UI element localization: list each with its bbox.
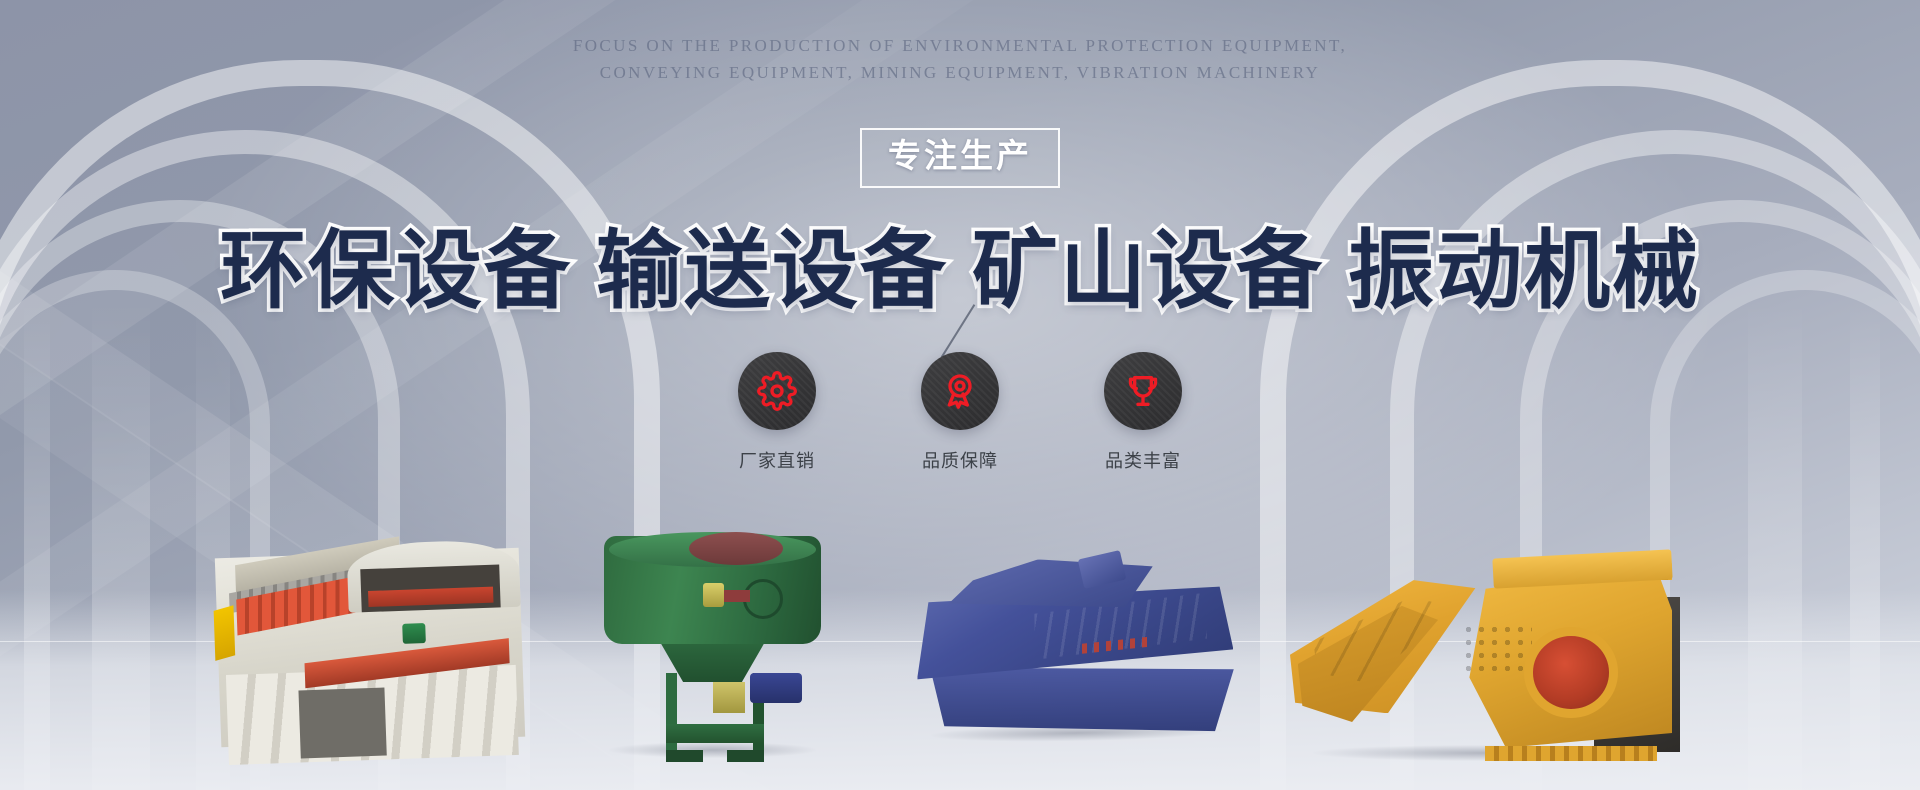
- headline-segment-3: 矿山设备: [972, 223, 1324, 319]
- photo-illustration: [1290, 550, 1680, 765]
- page-title: 环保设备输送设备矿山设备振动机械: [0, 200, 1920, 325]
- machine-photo-screening-plant: [201, 529, 539, 765]
- photo-illustration: [595, 527, 830, 762]
- trophy-icon: [1104, 352, 1182, 430]
- feature-item-rich-variety[interactable]: 品类丰富: [1088, 352, 1198, 473]
- machine-photo-blue-vibrating-screen: [908, 552, 1241, 748]
- focus-production-badge: 专注生产: [860, 128, 1060, 188]
- headline-segment-2: 输送设备: [596, 223, 948, 319]
- feature-item-quality-guarantee[interactable]: 品质保障: [905, 352, 1015, 473]
- photo-illustration: [908, 552, 1241, 748]
- gear-icon: [738, 352, 816, 430]
- eyebrow-tagline: FOCUS ON THE PRODUCTION OF ENVIRONMENTAL…: [0, 32, 1920, 86]
- medal-icon: [921, 352, 999, 430]
- machine-photo-yellow-jaw-crusher: [1290, 550, 1680, 765]
- photo-illustration: [201, 529, 539, 765]
- product-photo-row: [0, 460, 1920, 790]
- feature-list: 厂家直销 品质保障: [0, 352, 1920, 473]
- headline-segment-4: 振动机械: [1348, 223, 1700, 319]
- hero-banner: FOCUS ON THE PRODUCTION OF ENVIRONMENTAL…: [0, 0, 1920, 790]
- feature-item-factory-direct[interactable]: 厂家直销: [722, 352, 832, 473]
- machine-photo-green-mixer: [595, 527, 830, 762]
- banner-content: FOCUS ON THE PRODUCTION OF ENVIRONMENTAL…: [0, 0, 1920, 790]
- headline-segment-1: 环保设备: [220, 223, 572, 319]
- badge-container: 专注生产: [0, 128, 1920, 188]
